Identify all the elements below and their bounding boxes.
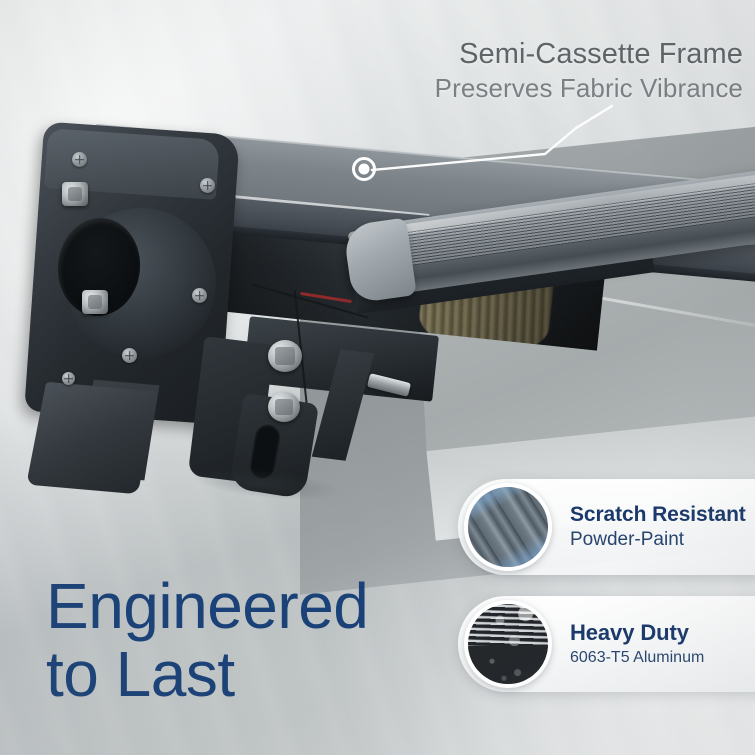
feature-thumbnail-image [464, 600, 552, 688]
water-droplets-overlay [468, 604, 548, 684]
page-subtitle: Preserves Fabric Vibrance [435, 73, 743, 104]
feature-subtitle: 6063-T5 Aluminum [570, 648, 704, 668]
hex-bolt-icon [82, 290, 108, 314]
feature-subtitle: Powder-Paint [570, 528, 746, 552]
end-cap-mounting-foot [26, 382, 158, 494]
phillips-screw-icon [200, 178, 215, 193]
headline: Engineered to Last [46, 572, 368, 709]
feature-card-scratch-resistant[interactable]: Scratch Resistant Powder-Paint [458, 479, 755, 575]
headline-line-2: to Last [46, 640, 368, 708]
feature-card-text: Heavy Duty 6063-T5 Aluminum [570, 620, 704, 667]
headline-line-1: Engineered [46, 572, 368, 640]
feature-thumbnail-image [464, 483, 552, 571]
hex-bolt-icon [268, 340, 302, 372]
phillips-screw-icon [122, 348, 137, 363]
phillips-screw-icon [62, 372, 75, 385]
phillips-screw-icon [72, 152, 87, 167]
product-feature-graphic: Semi-Cassette Frame Preserves Fabric Vib… [0, 0, 755, 755]
hex-bolt-icon [62, 182, 88, 206]
feature-title: Heavy Duty [570, 620, 704, 645]
hex-bolt-icon [268, 392, 300, 422]
phillips-screw-icon [192, 288, 207, 303]
page-title: Semi-Cassette Frame [435, 38, 743, 70]
feature-card-text: Scratch Resistant Powder-Paint [570, 503, 746, 552]
feature-title: Scratch Resistant [570, 503, 746, 527]
feature-card-heavy-duty[interactable]: Heavy Duty 6063-T5 Aluminum [458, 596, 755, 692]
header-block: Semi-Cassette Frame Preserves Fabric Vib… [435, 38, 743, 105]
